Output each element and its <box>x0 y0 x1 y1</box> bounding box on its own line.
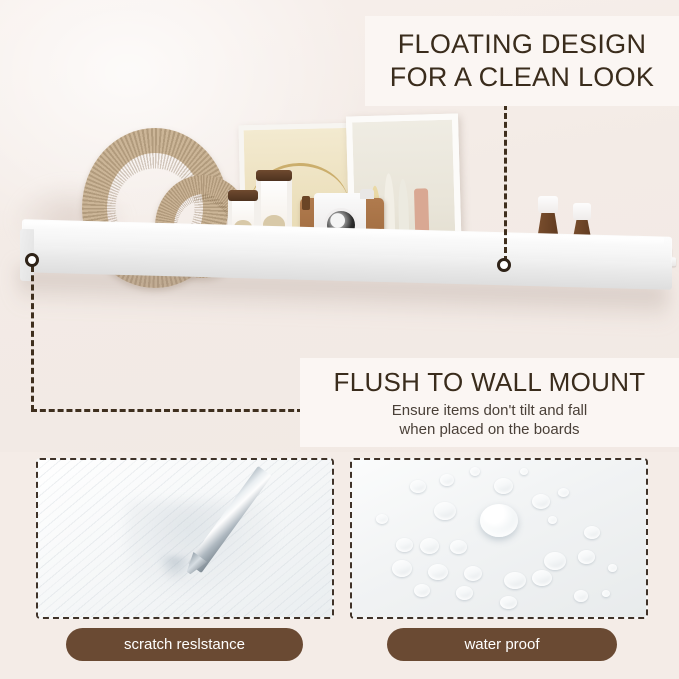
callout-flush-mount: FLUSH TO WALL MOUNT Ensure items don't t… <box>300 358 679 447</box>
flush-mount-heading: FLUSH TO WALL MOUNT <box>334 367 646 397</box>
flush-mount-subtext-line2: when placed on the boards <box>399 420 579 439</box>
water-droplet <box>532 494 550 509</box>
water-droplet <box>396 538 413 552</box>
water-droplet <box>376 514 388 524</box>
callout-line-flush-mount-vertical <box>31 266 34 411</box>
feature-panel-scratch-resistance <box>36 458 334 619</box>
callout-line-flush-mount-horizontal <box>31 409 303 412</box>
hourglass-cap-top <box>256 170 292 181</box>
water-droplet <box>500 596 517 609</box>
water-droplet <box>494 478 513 494</box>
water-droplet <box>414 584 430 597</box>
floating-design-heading-line2: FOR A CLEAN LOOK <box>390 61 654 94</box>
feature-panel-water-proof <box>350 458 648 619</box>
floating-design-heading-line1: FLOATING DESIGN <box>398 28 647 61</box>
scratch-panel-contact-shadow <box>158 556 192 582</box>
water-droplet <box>584 526 600 539</box>
callout-floating-design: FLOATING DESIGN FOR A CLEAN LOOK <box>365 16 679 106</box>
water-droplet <box>420 538 439 554</box>
floating-shelf-board <box>0 228 679 338</box>
water-droplet <box>544 552 566 570</box>
water-droplet <box>504 572 526 589</box>
water-droplet <box>464 566 482 581</box>
water-droplet <box>602 590 610 597</box>
water-droplet <box>558 488 569 497</box>
water-droplet <box>608 564 617 572</box>
camera-strap-lug <box>302 196 310 210</box>
camera-dial <box>360 189 374 199</box>
candle-wax <box>573 203 591 220</box>
badge-water-proof[interactable]: water proof <box>387 628 617 661</box>
water-droplet <box>434 502 456 520</box>
water-droplet <box>410 480 426 493</box>
water-droplet <box>450 540 467 554</box>
product-feature-infographic: FLOATING DESIGN FOR A CLEAN LOOK FLUSH T… <box>0 0 679 679</box>
water-droplet <box>548 516 557 524</box>
water-droplet <box>520 468 528 475</box>
candle-wax <box>538 196 558 213</box>
water-droplet <box>440 474 454 486</box>
callout-line-floating-design <box>504 104 507 262</box>
water-droplet <box>470 467 480 476</box>
callout-marker-flush-mount <box>25 253 39 267</box>
water-droplet <box>480 504 518 537</box>
callout-marker-floating-design <box>497 258 511 272</box>
water-droplet <box>392 560 412 577</box>
flush-mount-subtext-line1: Ensure items don't tilt and fall <box>392 401 587 420</box>
water-droplet <box>532 570 552 586</box>
water-droplet <box>578 550 595 564</box>
water-droplet <box>428 564 448 580</box>
water-droplet <box>456 586 473 600</box>
badge-scratch-resistance[interactable]: scratch reslstance <box>66 628 303 661</box>
water-droplet <box>574 590 588 602</box>
hourglass-cap-top <box>228 190 258 201</box>
